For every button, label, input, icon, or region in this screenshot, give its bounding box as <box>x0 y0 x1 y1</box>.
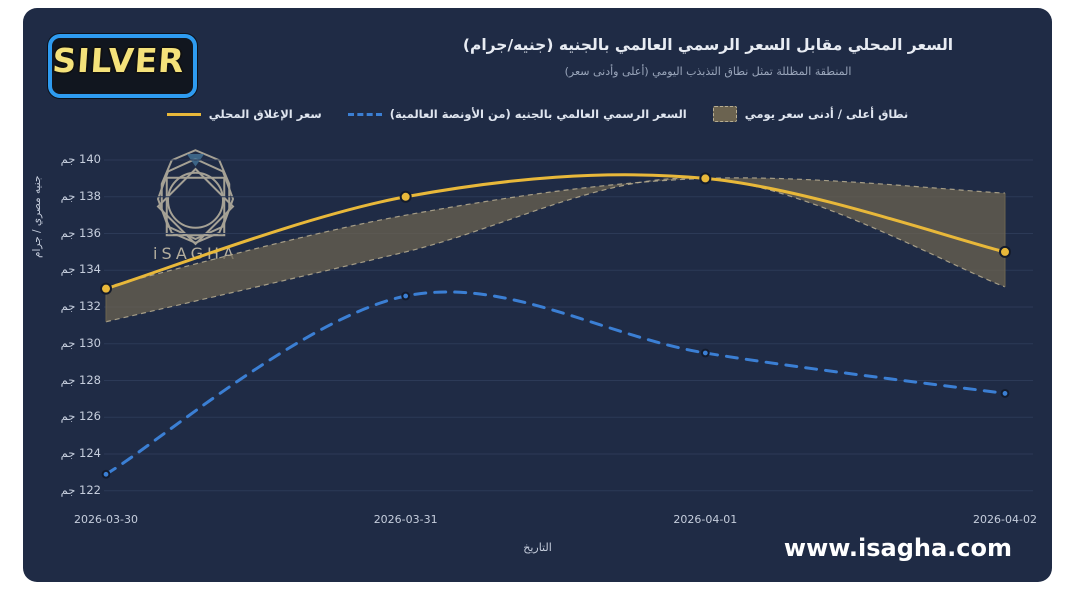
y-axis-tick-label: 130 جم <box>61 336 101 350</box>
x-axis-tick-label: 2026-03-31 <box>346 513 466 526</box>
data-point-marker[interactable] <box>700 173 710 183</box>
y-axis-tick-label: 124 جم <box>61 446 101 460</box>
data-point-marker[interactable] <box>1002 390 1009 397</box>
y-axis-tick-label: 126 جم <box>61 409 101 423</box>
screenshot-root: SILVER السعر المحلي مقابل السعر الرسمي ا… <box>0 0 1075 590</box>
data-point-marker[interactable] <box>1000 247 1010 257</box>
x-axis-tick-label: 2026-04-02 <box>945 513 1052 526</box>
series-line-1 <box>106 292 1005 474</box>
chart-plot-area <box>23 8 1052 582</box>
y-axis-tick-label: 132 جم <box>61 299 101 313</box>
data-point-marker[interactable] <box>401 192 411 202</box>
data-point-marker[interactable] <box>103 471 110 478</box>
site-watermark: www.isagha.com <box>784 534 1012 562</box>
y-axis-label: جنيه مصري / جرام <box>31 176 43 258</box>
chart-card: SILVER السعر المحلي مقابل السعر الرسمي ا… <box>23 8 1052 582</box>
y-axis-tick-label: 136 جم <box>61 226 101 240</box>
x-axis-tick-label: 2026-03-30 <box>46 513 166 526</box>
x-axis-tick-label: 2026-04-01 <box>645 513 765 526</box>
y-axis-tick-label: 138 جم <box>61 189 101 203</box>
y-axis-tick-label: 122 جم <box>61 483 101 497</box>
data-point-marker[interactable] <box>402 293 409 300</box>
y-axis-tick-label: 134 جم <box>61 262 101 276</box>
y-axis-tick-label: 128 جم <box>61 373 101 387</box>
data-point-marker[interactable] <box>101 284 111 294</box>
y-axis-tick-label: 140 جم <box>61 152 101 166</box>
data-point-marker[interactable] <box>702 350 709 357</box>
